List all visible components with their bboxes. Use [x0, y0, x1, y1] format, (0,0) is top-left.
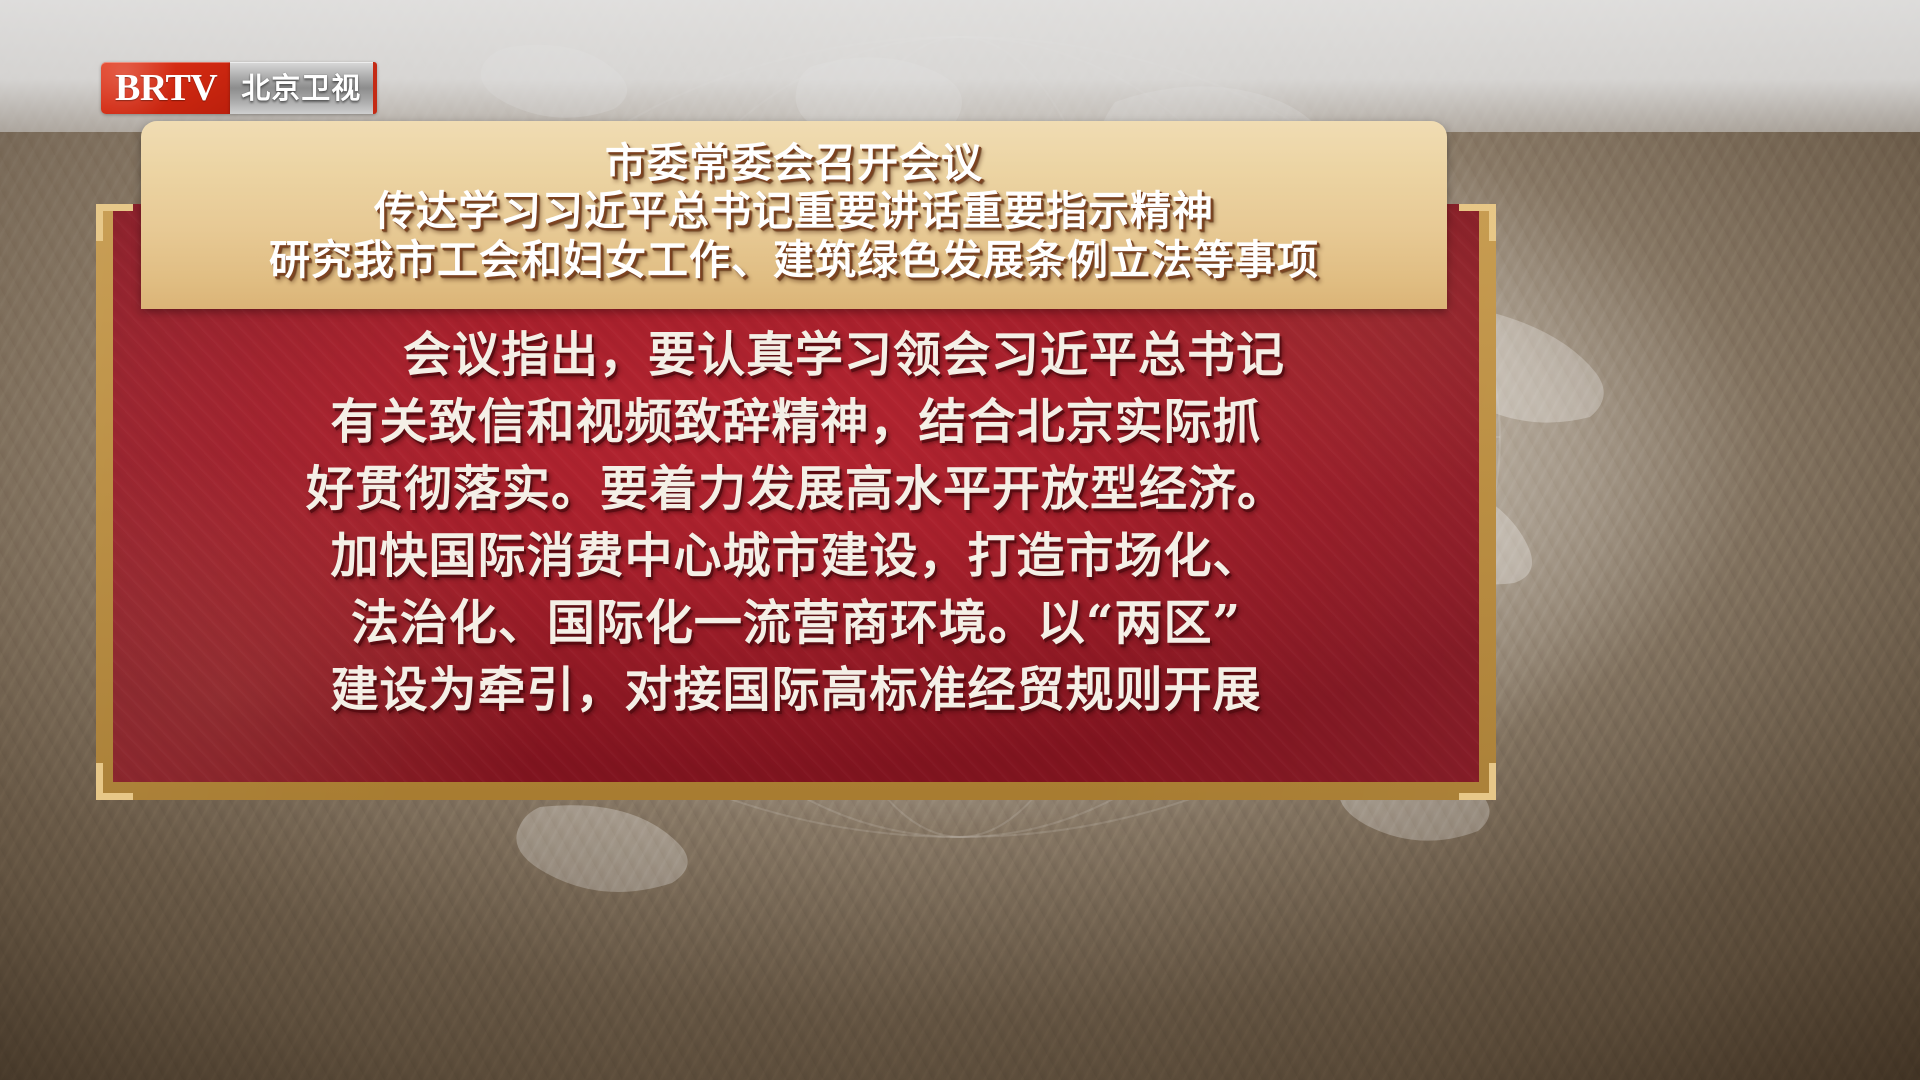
body-line-1: 会议指出，要认真学习领会习近平总书记 — [307, 322, 1285, 389]
headline-banner: 市委常委会召开会议 传达学习习近平总书记重要讲话重要指示精神 研究我市工会和妇女… — [141, 121, 1447, 309]
channel-logo: BRTV 北京卫视 — [101, 62, 377, 114]
channel-logo-name-text: 北京卫视 — [241, 74, 361, 103]
body-line-2: 有关致信和视频致辞精神，结合北京实际抓 — [330, 389, 1261, 456]
body-line-3: 好贯彻落实。要着力发展高水平开放型经济。 — [306, 456, 1286, 523]
channel-logo-brand-text: BRTV — [115, 69, 217, 107]
frame-corner-top-left — [96, 204, 133, 241]
channel-logo-brand-plate: BRTV — [101, 62, 230, 114]
frame-corner-bottom-right — [1459, 763, 1496, 800]
headline-line-3: 研究我市工会和妇女工作、建筑绿色发展条例立法等事项 — [269, 236, 1319, 284]
body-line-4: 加快国际消费中心城市建设，打造市场化、 — [330, 523, 1261, 590]
channel-logo-name-plate: 北京卫视 — [230, 62, 377, 114]
frame-corner-top-right — [1459, 204, 1496, 241]
frame-corner-bottom-left — [96, 763, 133, 800]
body-line-6: 建设为牵引，对接国际高标准经贸规则开展 — [330, 657, 1261, 724]
headline-line-1: 市委常委会召开会议 — [605, 139, 983, 187]
headline-line-2: 传达学习习近平总书记重要讲话重要指示精神 — [374, 187, 1214, 235]
news-body-text: 会议指出，要认真学习领会习近平总书记 有关致信和视频致辞精神，结合北京实际抓 好… — [113, 322, 1479, 724]
body-line-5: 法治化、国际化一流营商环境。以“两区” — [351, 590, 1241, 657]
broadcast-screen: BRTV 北京卫视 市委常委会召开会议 传达学习习近平总书记重要讲话重要指示精神… — [0, 0, 1920, 1080]
